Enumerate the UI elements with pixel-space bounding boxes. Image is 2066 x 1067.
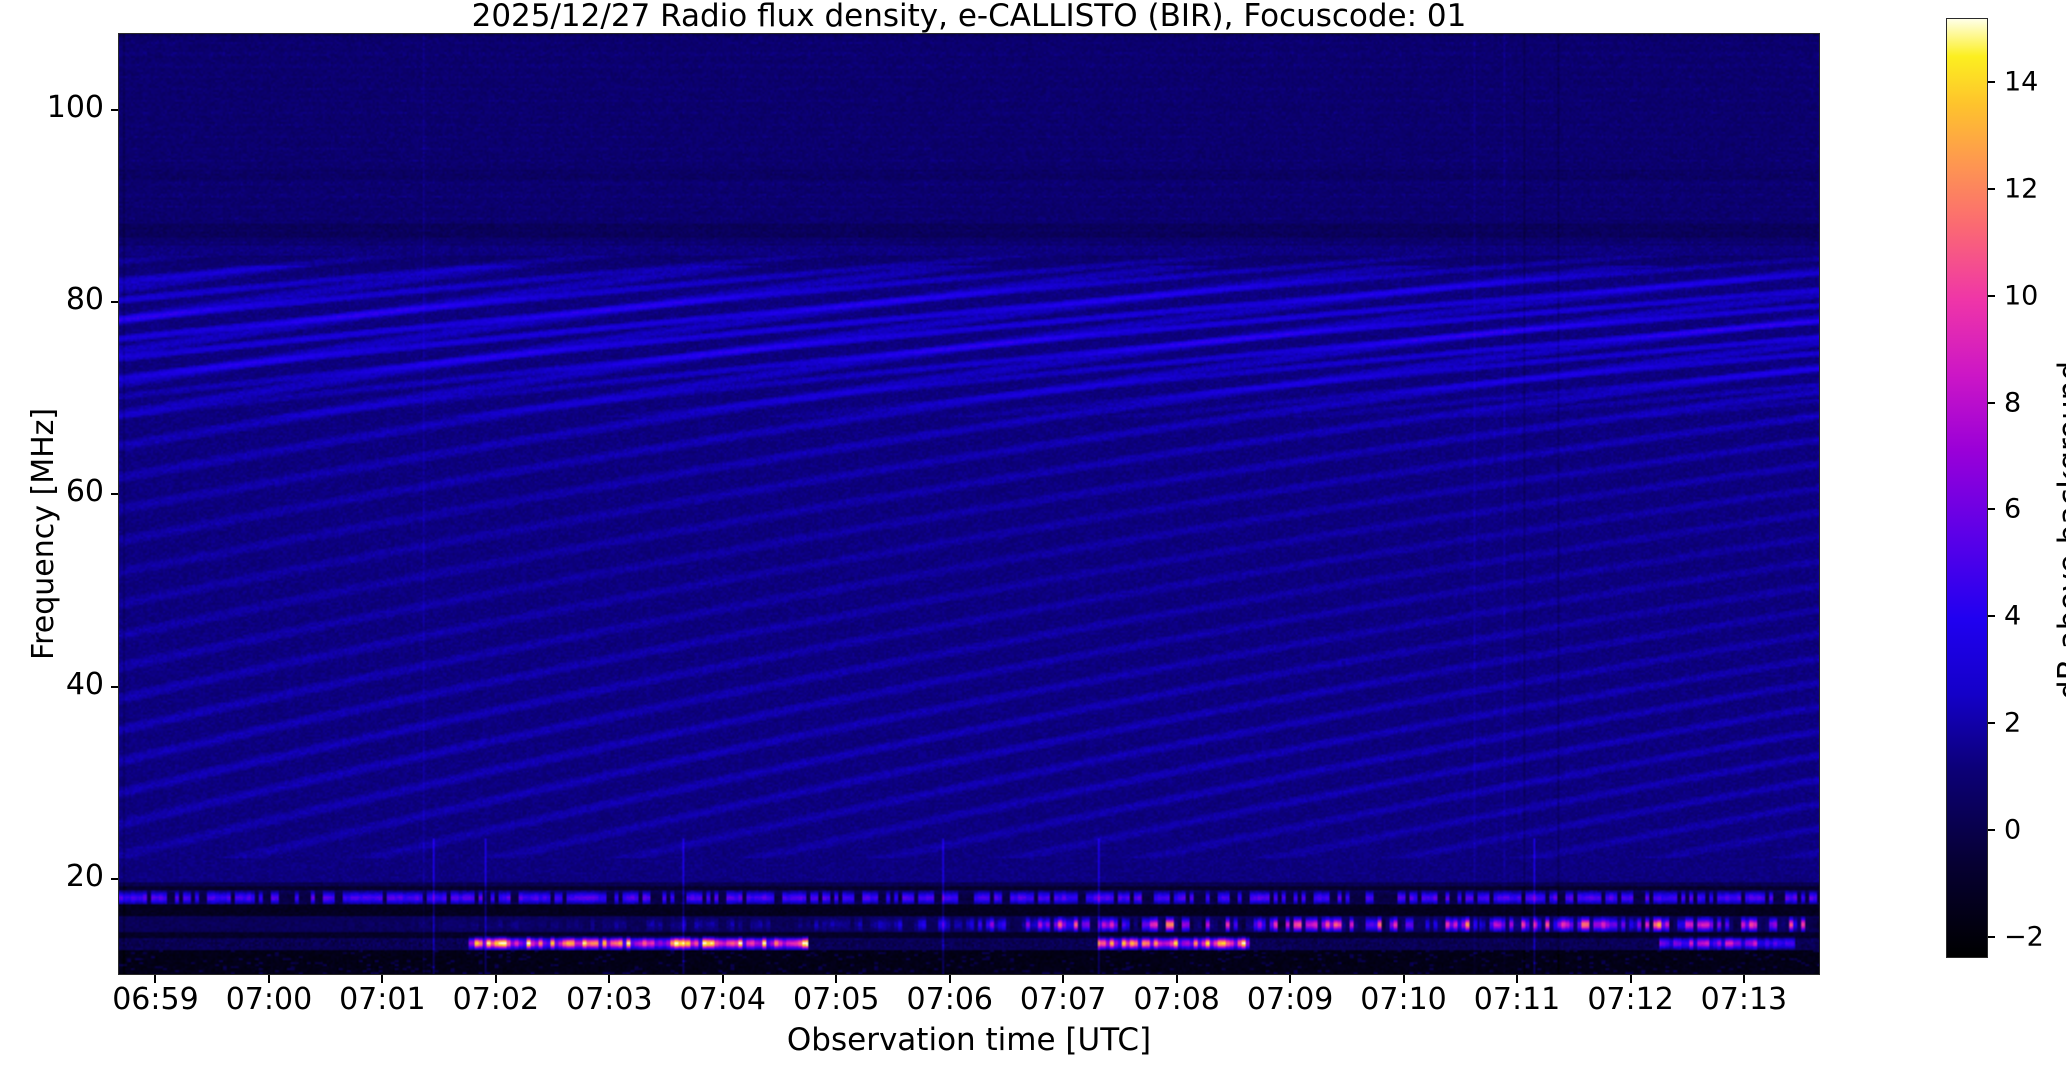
y-tick-label: 60 bbox=[0, 474, 104, 509]
colorbar-tick-mark bbox=[1988, 829, 1995, 831]
spectrogram-image bbox=[119, 34, 1819, 974]
colorbar-label: dB above background bbox=[2052, 361, 2066, 700]
y-tick-mark bbox=[111, 493, 118, 495]
x-tick-label: 07:04 bbox=[679, 982, 765, 1017]
y-tick-label: 100 bbox=[0, 90, 104, 125]
x-tick-label: 07:01 bbox=[339, 982, 425, 1017]
colorbar-tick-mark bbox=[1988, 508, 1995, 510]
y-axis-label: Frequency [MHz] bbox=[26, 408, 61, 660]
x-tick-label: 07:10 bbox=[1360, 982, 1446, 1017]
colorbar-tick-label: 8 bbox=[2004, 387, 2021, 418]
colorbar-tick-mark bbox=[1988, 936, 1995, 938]
x-tick-label: 07:00 bbox=[226, 982, 312, 1017]
colorbar bbox=[1946, 18, 1988, 958]
colorbar-tick-mark bbox=[1988, 402, 1995, 404]
x-tick-label: 07:07 bbox=[1020, 982, 1106, 1017]
x-tick-label: 07:06 bbox=[907, 982, 993, 1017]
colorbar-tick-label: 10 bbox=[2004, 280, 2038, 311]
y-tick-mark bbox=[111, 686, 118, 688]
y-tick-mark bbox=[111, 109, 118, 111]
spectrogram-axes bbox=[118, 33, 1820, 975]
x-tick-label: 07:13 bbox=[1701, 982, 1787, 1017]
x-tick-label: 06:59 bbox=[112, 982, 198, 1017]
colorbar-tick-label: 4 bbox=[2004, 601, 2021, 632]
colorbar-tick-mark bbox=[1988, 615, 1995, 617]
x-tick-label: 07:11 bbox=[1474, 982, 1560, 1017]
colorbar-tick-label: −2 bbox=[2004, 921, 2044, 952]
colorbar-tick-label: 14 bbox=[2004, 67, 2038, 98]
x-tick-label: 07:02 bbox=[453, 982, 539, 1017]
x-tick-label: 07:08 bbox=[1133, 982, 1219, 1017]
y-tick-label: 20 bbox=[0, 859, 104, 894]
colorbar-tick-mark bbox=[1988, 81, 1995, 83]
y-tick-label: 80 bbox=[0, 282, 104, 317]
colorbar-gradient bbox=[1947, 19, 1987, 957]
spectrogram-figure: 2025/12/27 Radio flux density, e-CALLIST… bbox=[0, 0, 2066, 1067]
x-tick-label: 07:03 bbox=[566, 982, 652, 1017]
colorbar-tick-label: 0 bbox=[2004, 814, 2021, 845]
x-axis-label: Observation time [UTC] bbox=[118, 1022, 1820, 1058]
colorbar-tick-label: 2 bbox=[2004, 708, 2021, 739]
colorbar-tick-label: 12 bbox=[2004, 173, 2038, 204]
y-tick-mark bbox=[111, 301, 118, 303]
x-tick-label: 07:05 bbox=[793, 982, 879, 1017]
page-title: 2025/12/27 Radio flux density, e-CALLIST… bbox=[118, 0, 1820, 33]
colorbar-tick-mark bbox=[1988, 722, 1995, 724]
colorbar-tick-mark bbox=[1988, 188, 1995, 190]
colorbar-tick-mark bbox=[1988, 295, 1995, 297]
y-tick-mark bbox=[111, 878, 118, 880]
x-tick-label: 07:12 bbox=[1587, 982, 1673, 1017]
x-tick-label: 07:09 bbox=[1247, 982, 1333, 1017]
y-tick-label: 40 bbox=[0, 667, 104, 702]
colorbar-tick-label: 6 bbox=[2004, 494, 2021, 525]
